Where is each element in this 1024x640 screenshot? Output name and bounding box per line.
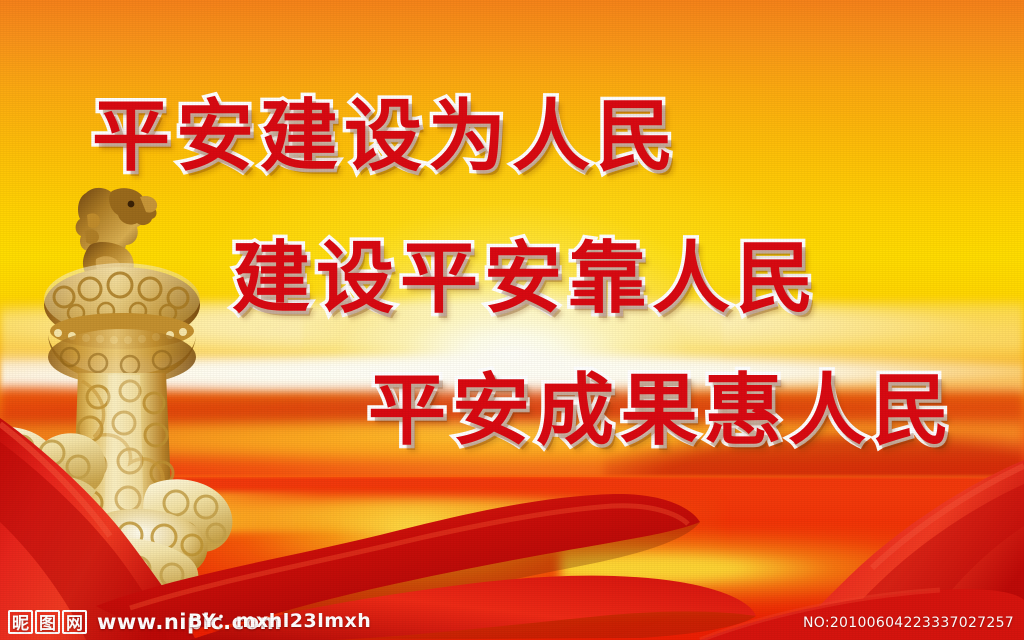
slogan-line-2: 建设平安靠人民 [232,240,820,318]
nipic-logo-icon: 昵 图 网 [8,610,87,634]
slogan-line-1: 平安建设为人民 [92,98,680,176]
image-number-watermark: NO:20100604223337027257 [803,615,1014,631]
slogan-line-3: 平安成果惠人民 [368,372,956,450]
poster-canvas: 平安建设为人民 建设平安靠人民 平安成果惠人民 昵 图 网 www.nipic.… [0,0,1024,640]
author-credit: BY：mxhl23lmxh [188,606,371,633]
logo-char-1: 昵 [8,610,33,634]
logo-char-2: 图 [35,610,60,634]
logo-char-3: 网 [62,610,87,634]
